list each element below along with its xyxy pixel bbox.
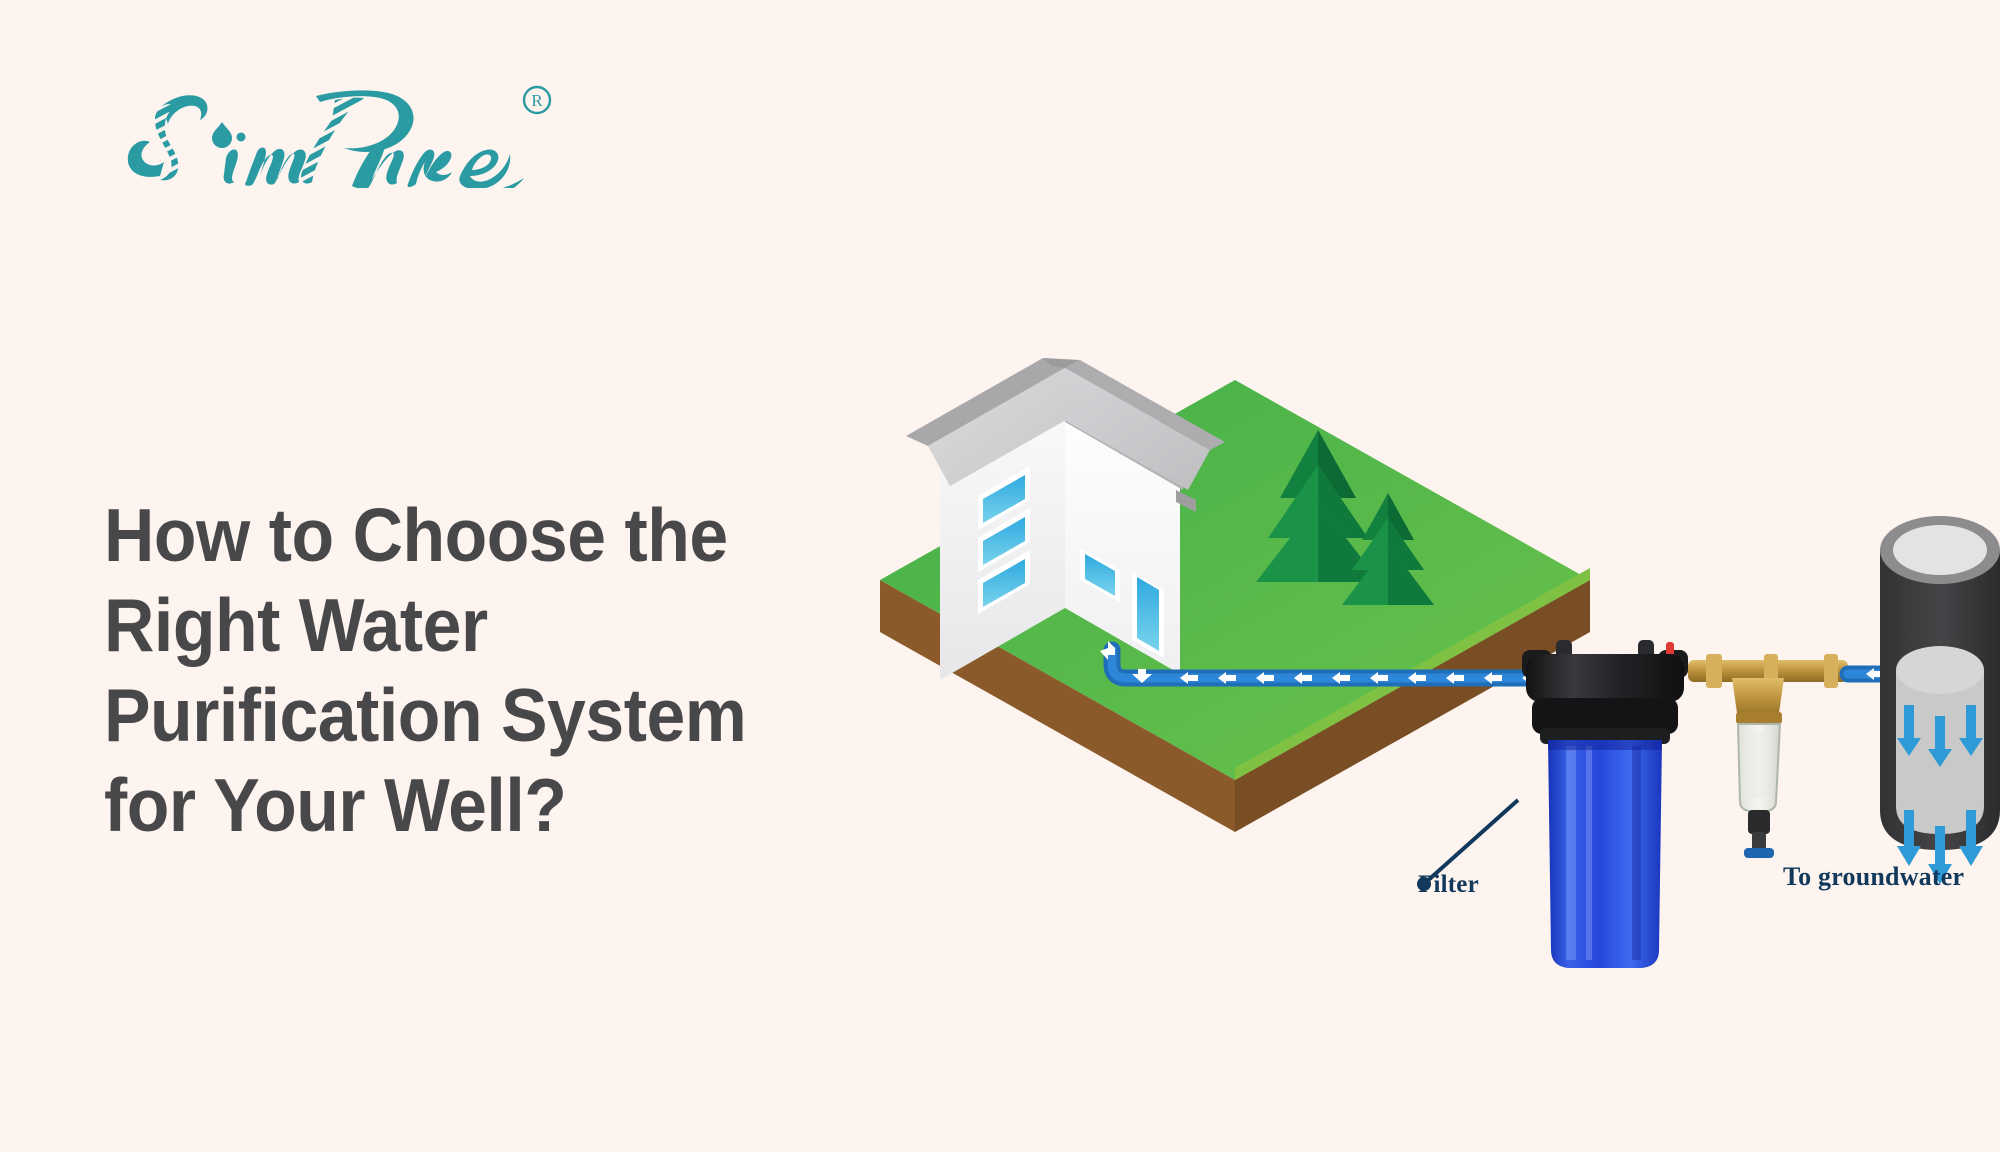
logo-letters-sim (128, 95, 306, 186)
filter-callout-label: Filter (1418, 871, 1479, 899)
headline-line-3: Purification System (104, 670, 922, 760)
simpure-logo[interactable]: R (100, 58, 560, 188)
logo-letters-pure (301, 90, 524, 188)
simpure-logo-svg: R (100, 58, 560, 188)
svg-text:R: R (531, 91, 543, 110)
headline-line-2: Right Water (104, 580, 922, 670)
promo-banner: R How to Choose the Right Water Purifica… (0, 0, 2000, 1152)
headline-line-4: for Your Well? (104, 760, 922, 850)
pressure-release-button (1666, 642, 1674, 656)
filter-housing[interactable] (1522, 640, 1688, 968)
well-filtration-illustration (880, 250, 2000, 950)
sediment-prefilter[interactable] (1688, 654, 1848, 858)
page-title: How to Choose the Right Water Purificati… (104, 490, 922, 850)
registered-trademark-icon: R (524, 87, 550, 113)
headline-line-1: How to Choose the (104, 490, 922, 580)
groundwater-callout-label: To groundwater (1783, 862, 1964, 892)
groundwater-well (1880, 516, 2000, 884)
